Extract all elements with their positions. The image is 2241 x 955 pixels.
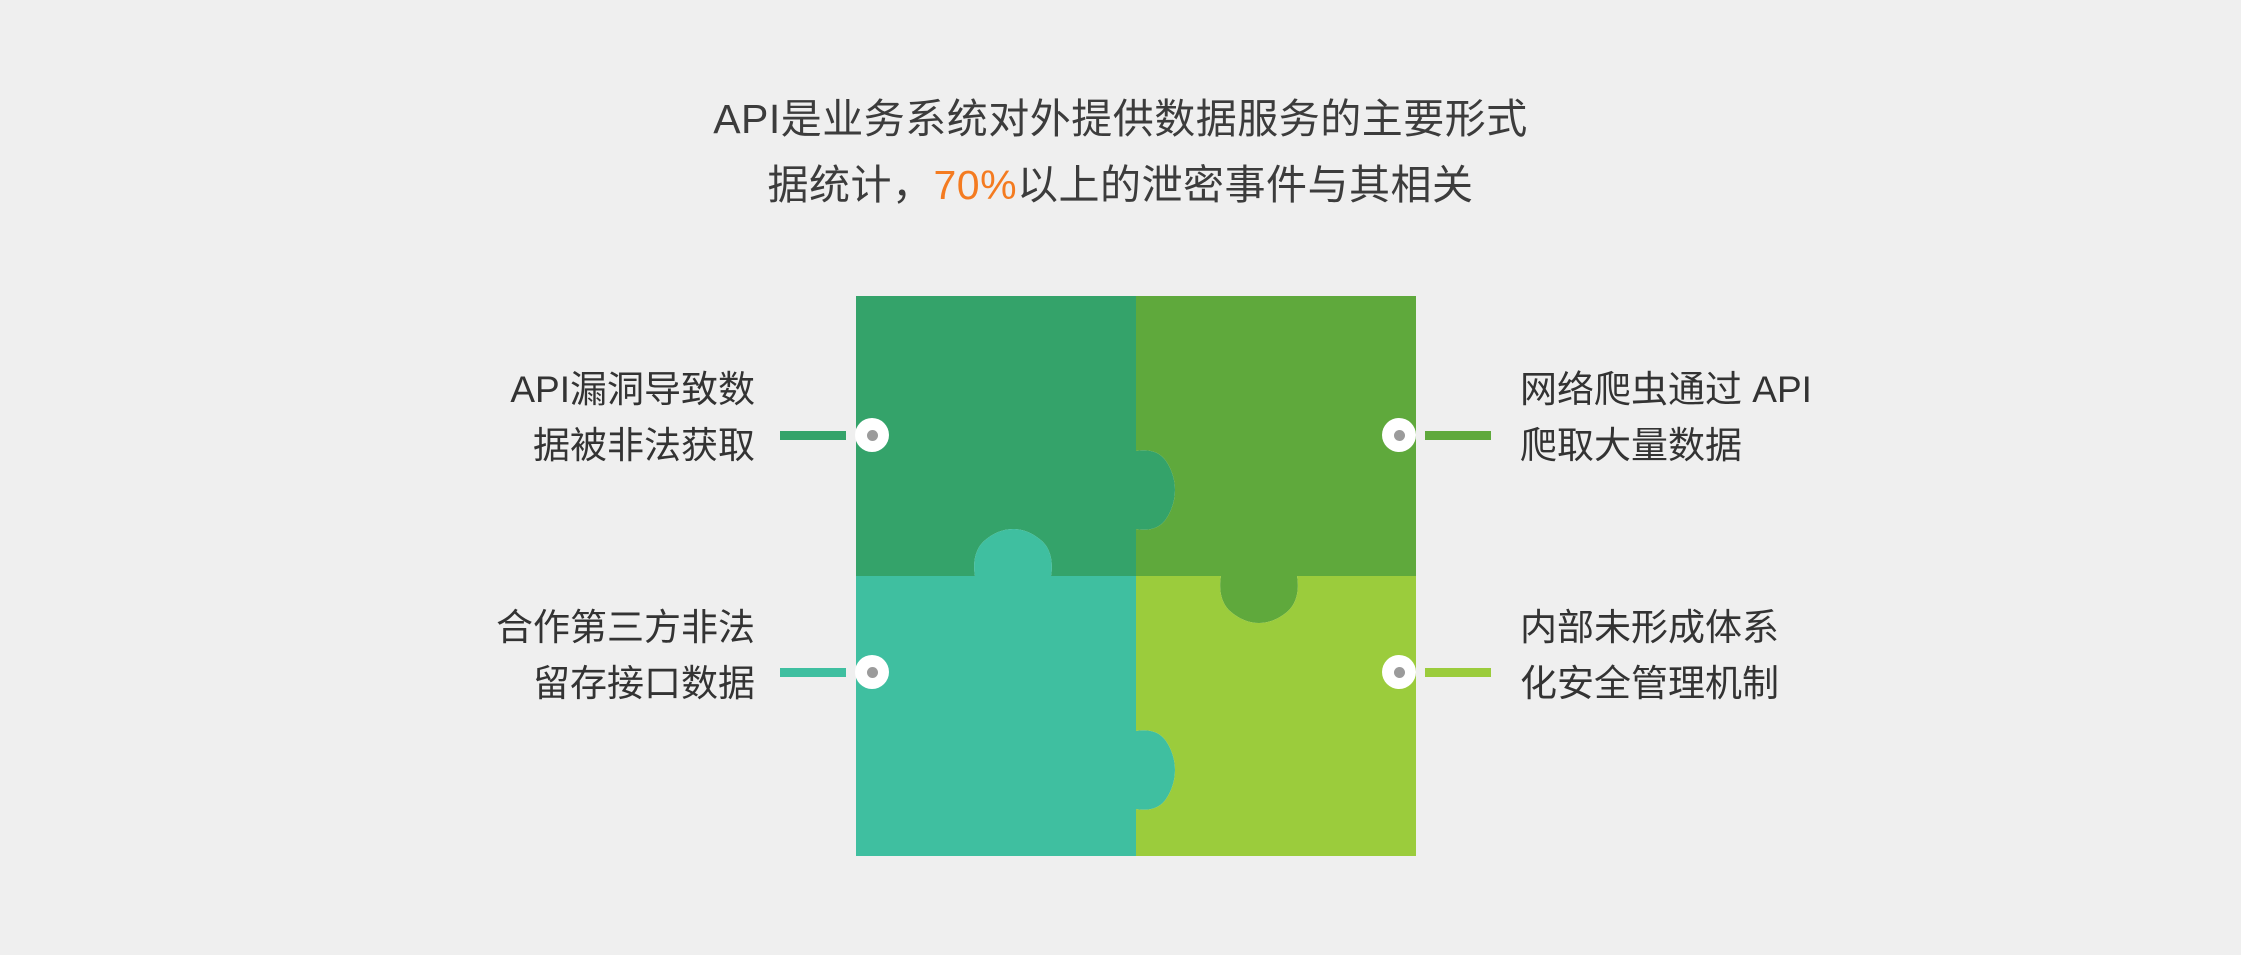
callout-top-left-line-1: API漏洞导致数 <box>510 362 755 418</box>
connector-bar-bottom-right <box>1425 668 1491 677</box>
headline-line-2-suffix: 以上的泄密事件与其相关 <box>1017 162 1474 208</box>
connector-knob-bottom-right <box>1382 655 1416 689</box>
callout-top-right-line-2: 爬取大量数据 <box>1520 418 1812 474</box>
callout-top-left-line-2: 据被非法获取 <box>510 418 755 474</box>
callout-bottom-left-line-2: 留存接口数据 <box>496 656 755 712</box>
callout-bottom-right: 内部未形成体系 化安全管理机制 <box>1520 600 1779 712</box>
callout-top-left: API漏洞导致数 据被非法获取 <box>510 362 755 474</box>
connector-knob-bottom-left <box>855 655 889 689</box>
callout-top-right-line-1: 网络爬虫通过 API <box>1520 362 1812 418</box>
connector-top-right <box>1382 418 1491 452</box>
page-headline: API是业务系统对外提供数据服务的主要形式 据统计，70%以上的泄密事件与其相关 <box>0 86 2241 218</box>
headline-line-2: 据统计，70%以上的泄密事件与其相关 <box>0 152 2241 218</box>
callout-bottom-left-line-1: 合作第三方非法 <box>496 600 755 656</box>
connector-bar-top-right <box>1425 431 1491 440</box>
headline-statistic: 70% <box>933 162 1017 208</box>
headline-line-2-prefix: 据统计， <box>767 162 933 208</box>
connector-bar-top-left <box>780 431 846 440</box>
puzzle-graphic <box>856 296 1416 856</box>
connector-knob-top-right <box>1382 418 1416 452</box>
puzzle-piece-bottom-left[interactable] <box>856 529 1175 856</box>
callout-bottom-left: 合作第三方非法 留存接口数据 <box>496 600 755 712</box>
connector-bottom-right <box>1382 655 1491 689</box>
puzzle-diagram <box>856 296 1416 856</box>
callout-top-right: 网络爬虫通过 API 爬取大量数据 <box>1520 362 1812 474</box>
callout-bottom-right-line-2: 化安全管理机制 <box>1520 656 1779 712</box>
connector-knob-top-left <box>855 418 889 452</box>
connector-top-left <box>780 418 889 452</box>
connector-bottom-left <box>780 655 889 689</box>
puzzle-piece-top-right[interactable] <box>1136 296 1416 623</box>
callout-bottom-right-line-1: 内部未形成体系 <box>1520 600 1779 656</box>
headline-line-1: API是业务系统对外提供数据服务的主要形式 <box>0 86 2241 152</box>
connector-bar-bottom-left <box>780 668 846 677</box>
